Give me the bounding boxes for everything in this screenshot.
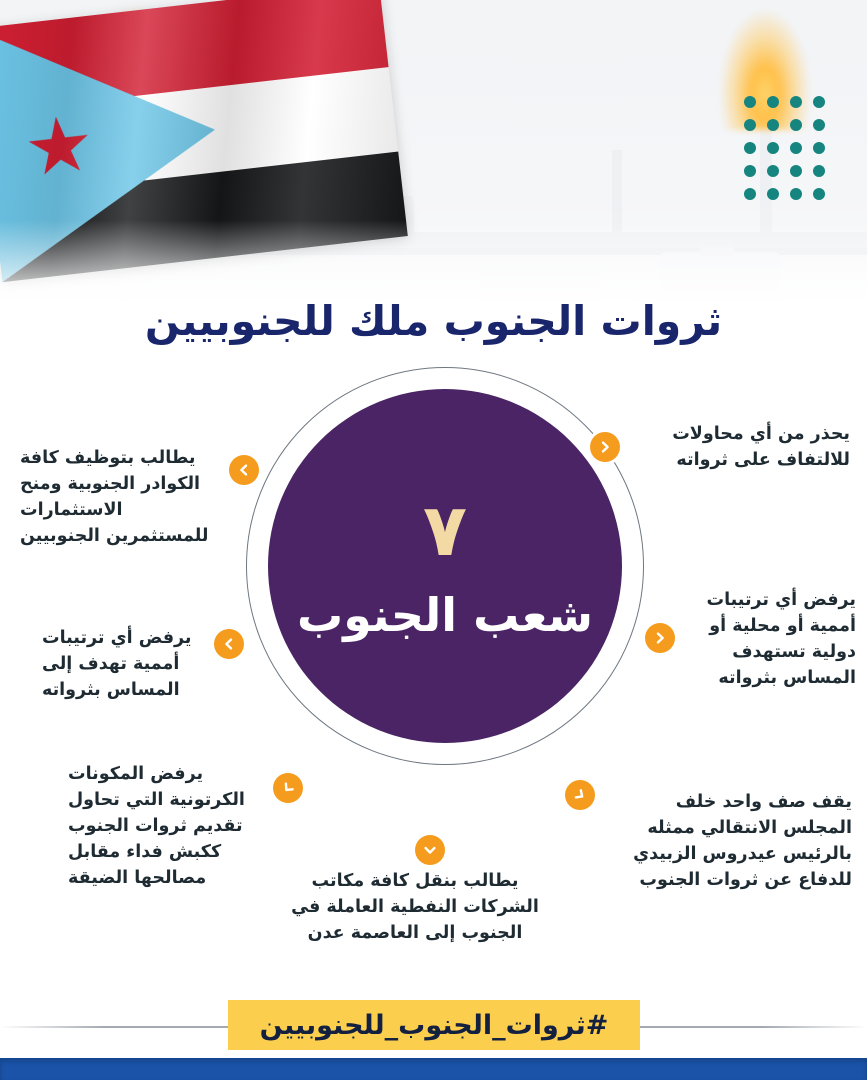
- item-text-3: يقف صف واحد خلف المجلس الانتقالي ممثله ب…: [614, 790, 852, 894]
- infographic-poster: ثروات الجنوب ملك للجنوبيين ٧ شعب الجنوب: [0, 0, 867, 1080]
- item-text-6: يرفض أي ترتيبات أممية تهدف إلى المساس بث…: [42, 626, 220, 704]
- chevron-right-icon: [598, 440, 612, 454]
- item-text-5: يرفض المكونات الكرتونية التي تحاول تقديم…: [68, 762, 262, 891]
- center-numeral: ٧: [423, 494, 467, 566]
- marker-item-5[interactable]: [273, 773, 303, 803]
- chevron-down-left-icon: [281, 781, 295, 795]
- marker-item-4[interactable]: [415, 835, 445, 865]
- item-text-1: يحذر من أي محاولات للالتفاف على ثرواته: [632, 422, 850, 474]
- item-text-7: يطالب بتوظيف كافة الكوادر الجنوبية ومنح …: [20, 446, 220, 550]
- marker-item-7[interactable]: [229, 455, 259, 485]
- marker-item-1[interactable]: [590, 432, 620, 462]
- hero-banner: [0, 0, 867, 330]
- bottom-bar: [0, 1058, 867, 1080]
- chevron-left-icon: [237, 463, 251, 477]
- chevron-right-icon: [653, 631, 667, 645]
- hashtag-band: #ثروات_الجنوب_للجنوبيين: [228, 1000, 640, 1050]
- hashtag-text: #ثروات_الجنوب_للجنوبيين: [260, 1010, 609, 1041]
- marker-item-2[interactable]: [645, 623, 675, 653]
- chevron-left-icon: [222, 637, 236, 651]
- diagram-center: ٧ شعب الجنوب: [268, 389, 622, 743]
- item-text-2: يرفض أي ترتيبات أممية أو محلية أو دولية …: [684, 588, 856, 692]
- item-text-4: يطالب بنقل كافة مكاتب الشركات النفطية ال…: [290, 869, 540, 947]
- radial-diagram: ٧ شعب الجنوب: [268, 389, 622, 743]
- dot-grid-decoration: [744, 96, 825, 200]
- chevron-right-icon: [573, 788, 587, 802]
- chevron-down-icon: [423, 843, 437, 857]
- marker-item-3[interactable]: [565, 780, 595, 810]
- center-label: شعب الجنوب: [297, 592, 593, 638]
- page-title: ثروات الجنوب ملك للجنوبيين: [0, 296, 867, 347]
